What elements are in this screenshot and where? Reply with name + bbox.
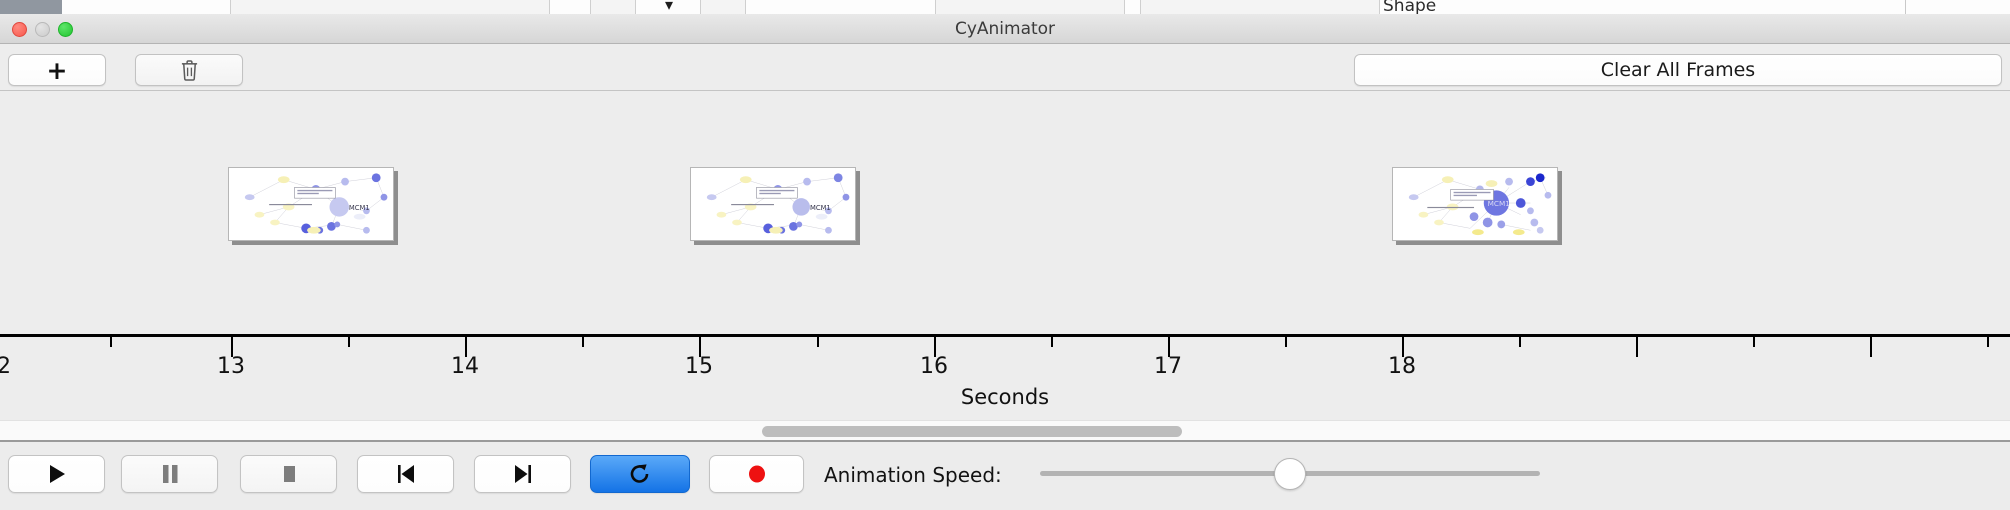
axis-minor-tick — [1753, 337, 1755, 347]
svg-text:MCM1: MCM1 — [1488, 199, 1510, 208]
title-bar[interactable]: CyAnimator — [0, 14, 2010, 44]
network-thumbnail-icon: MCM1 — [229, 168, 393, 240]
background-field-1 — [230, 0, 550, 14]
axis-minor-tick — [1051, 337, 1053, 347]
axis-minor-tick — [817, 337, 819, 347]
network-thumbnail-icon: MCM1 — [1393, 168, 1557, 240]
frame-track[interactable]: MCM1 — [0, 91, 2010, 331]
zoom-traffic-light[interactable] — [58, 22, 73, 37]
skip-next-button[interactable] — [474, 455, 571, 493]
timeline-axis-line — [0, 334, 2010, 337]
loop-icon — [628, 462, 652, 486]
axis-minor-tick — [348, 337, 350, 347]
clear-all-frames-label: Clear All Frames — [1601, 59, 1755, 81]
trash-icon — [180, 59, 199, 81]
minimize-traffic-light[interactable] — [35, 22, 50, 37]
pause-button[interactable] — [121, 455, 218, 493]
frame-image: MCM1 — [1392, 167, 1558, 241]
skip-previous-icon — [395, 463, 417, 485]
scrollbar-thumb[interactable] — [762, 426, 1182, 437]
background-caret-icon: ▾ — [665, 0, 673, 14]
stop-icon — [279, 463, 299, 485]
skip-next-icon — [512, 463, 534, 485]
skip-previous-button[interactable] — [357, 455, 454, 493]
background-field-4 — [935, 0, 1125, 14]
axis-minor-tick — [582, 337, 584, 347]
record-icon — [746, 463, 768, 485]
timeline-frame-thumbnail[interactable]: MCM1 — [1392, 167, 1562, 245]
play-icon — [47, 463, 67, 485]
background-field-3 — [700, 0, 746, 14]
play-button[interactable] — [8, 455, 105, 493]
slider-thumb[interactable] — [1274, 458, 1306, 490]
svg-text:MCM1: MCM1 — [810, 204, 831, 212]
playback-control-bar: Animation Speed: — [0, 442, 2010, 510]
timeline-frame-thumbnail[interactable]: MCM1 — [690, 167, 860, 245]
delete-frame-button[interactable] — [135, 54, 243, 86]
axis-minor-tick — [1285, 337, 1287, 347]
timeline-frame-thumbnail[interactable]: MCM1 — [228, 167, 398, 245]
axis-tick-label: 17 — [1154, 354, 1182, 379]
cyanimator-window: ▾ Shape CyAnimator + Clear All Frames — [0, 0, 2010, 510]
background-app-label: Shape — [1383, 0, 1436, 14]
clear-all-frames-button[interactable]: Clear All Frames — [1354, 54, 2002, 86]
background-field-2 — [590, 0, 636, 14]
axis-tick-label: 15 — [685, 354, 713, 379]
axis-major-tick — [1636, 337, 1638, 357]
stop-button[interactable] — [240, 455, 337, 493]
window-title: CyAnimator — [0, 14, 2010, 44]
timeline-horizontal-scrollbar[interactable] — [0, 420, 2010, 442]
background-app-strip: ▾ Shape — [0, 0, 2010, 14]
axis-minor-tick — [110, 337, 112, 347]
axis-tick-label: 16 — [920, 354, 948, 379]
add-frame-button[interactable]: + — [8, 54, 106, 86]
axis-tick-label: 18 — [1388, 354, 1416, 379]
background-divider — [1905, 0, 1906, 14]
frame-image: MCM1 — [690, 167, 856, 241]
network-thumbnail-icon: MCM1 — [691, 168, 855, 240]
close-traffic-light[interactable] — [12, 22, 27, 37]
axis-minor-tick — [1519, 337, 1521, 347]
timeline-panel[interactable]: MCM1 — [0, 91, 2010, 420]
animation-speed-slider[interactable] — [1040, 466, 1540, 484]
frame-image: MCM1 — [228, 167, 394, 241]
axis-tick-label: 2 — [0, 354, 11, 379]
background-toolbar-dark — [0, 0, 62, 14]
axis-tick-label: 13 — [217, 354, 245, 379]
svg-text:MCM1: MCM1 — [349, 204, 370, 212]
animation-speed-label: Animation Speed: — [824, 463, 1002, 487]
axis-title: Seconds — [0, 385, 2010, 409]
traffic-light-group — [12, 22, 73, 37]
axis-major-tick — [1870, 337, 1872, 357]
pause-icon — [160, 463, 180, 485]
axis-tick-label: 14 — [451, 354, 479, 379]
plus-icon: + — [47, 58, 68, 83]
background-field-5 — [1140, 0, 1380, 14]
axis-minor-tick — [1987, 337, 1989, 347]
loop-button[interactable] — [590, 455, 690, 493]
frame-toolbar: + Clear All Frames — [0, 44, 2010, 91]
record-button[interactable] — [709, 455, 804, 493]
